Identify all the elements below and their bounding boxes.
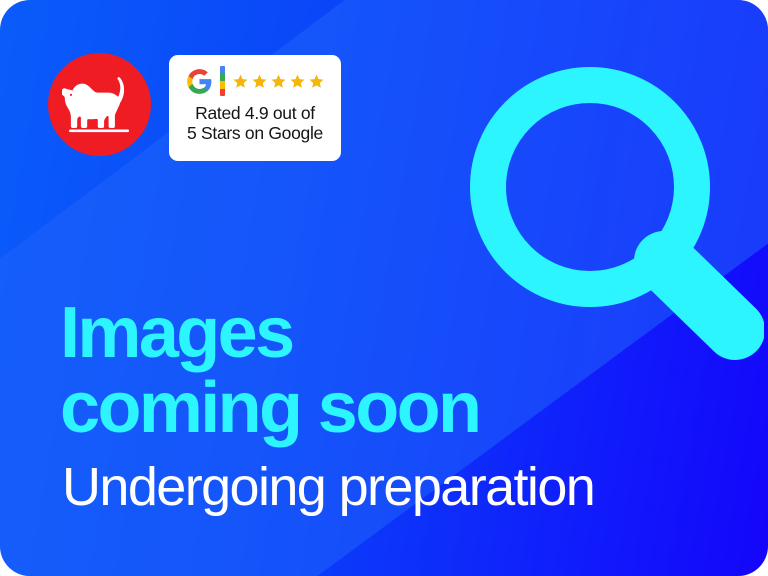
badge-rating-row xyxy=(186,64,325,98)
star-icon xyxy=(251,73,268,90)
google-g-icon xyxy=(186,68,213,95)
rating-text-line-2: 5 Stars on Google xyxy=(187,123,323,143)
dog-silhouette-icon xyxy=(62,74,138,136)
star-rating xyxy=(232,73,325,90)
message-block: Images coming soon Undergoing preparatio… xyxy=(60,296,750,518)
google-review-badge: Rated 4.9 out of 5 Stars on Google xyxy=(169,55,341,161)
headline-line-1: Images xyxy=(60,296,750,371)
star-icon xyxy=(270,73,287,90)
star-icon xyxy=(308,73,325,90)
rating-text: Rated 4.9 out of 5 Stars on Google xyxy=(187,103,323,143)
subheadline: Undergoing preparation xyxy=(62,456,750,518)
headline-line-2: coming soon xyxy=(60,371,750,446)
images-coming-soon-placeholder: Rated 4.9 out of 5 Stars on Google Image… xyxy=(0,0,768,576)
rating-text-line-1: Rated 4.9 out of xyxy=(187,103,323,123)
star-icon xyxy=(289,73,306,90)
google-color-bar-icon xyxy=(220,66,225,96)
star-icon xyxy=(232,73,249,90)
brand-logo xyxy=(48,53,151,156)
